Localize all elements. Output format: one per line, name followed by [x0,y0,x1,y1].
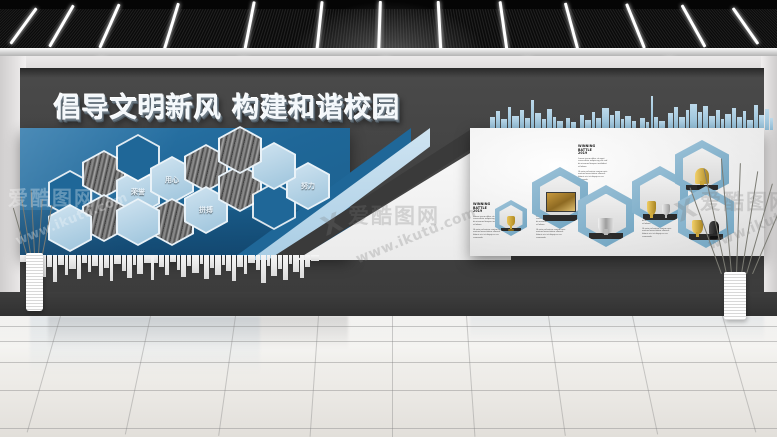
gold-trophy [507,215,515,231]
wall-top-shadow [20,68,764,78]
trophy-base [648,218,654,220]
hexagon-label: 荣誉 [131,187,145,197]
ceiling-trim [0,48,777,56]
gold-plaque [546,192,576,212]
baseboard [0,292,777,318]
floor-reflection-blue [30,316,260,376]
showroom-scene: 倡导文明新风 构建和谐校园 [0,0,777,437]
award-body-p1: Lorem ipsum dolor sit amet consectetur a… [578,158,608,169]
award-text-block: WINNING BATTLE 2019 Lorem ipsum dolor si… [578,145,608,183]
hexagon-label: 拼搏 [199,205,213,215]
silver-cup [598,209,614,239]
award-body-p2: Ut enim ad minim veniam quis nostrud exe… [642,228,672,239]
trophy-base [600,235,612,239]
floor-vase-right [724,272,746,320]
award-heading-line3: 2019 [578,152,608,156]
page-title: 倡导文明新风 构建和谐校园 [54,92,414,126]
trophy-base [663,218,669,220]
hexagon-inner [220,128,260,172]
trophy-base [694,237,702,239]
city-skyline-silhouette-top [488,90,774,130]
trophy-base [508,229,514,231]
shelf-floorplate [543,215,577,221]
tiled-floor [0,316,777,437]
hexagon-inner [118,200,158,244]
silver-trophy [662,201,670,220]
city-skyline-silhouette-bottom [20,255,320,291]
floor-reflection [470,316,764,342]
ceiling [0,0,777,52]
floor-vase-left [26,253,43,311]
award-body: Lorem ipsum dolor sit amet consectetur a… [578,158,608,182]
hexagon-label: 努力 [301,181,315,191]
award-base [710,236,717,239]
hexagon-photo-grid: 荣誉 用心 拼搏 努力 [48,136,318,248]
award-body-p2: Ut enim ad minim veniam quis nostrud exe… [536,229,566,240]
gold-trophy [647,196,656,220]
hexagon-label: 用心 [165,175,179,185]
hexagon-inner [50,206,90,250]
award-body-p2: Ut enim ad minim veniam quis nostrud exe… [473,229,503,240]
shelf-cavity [640,175,680,220]
